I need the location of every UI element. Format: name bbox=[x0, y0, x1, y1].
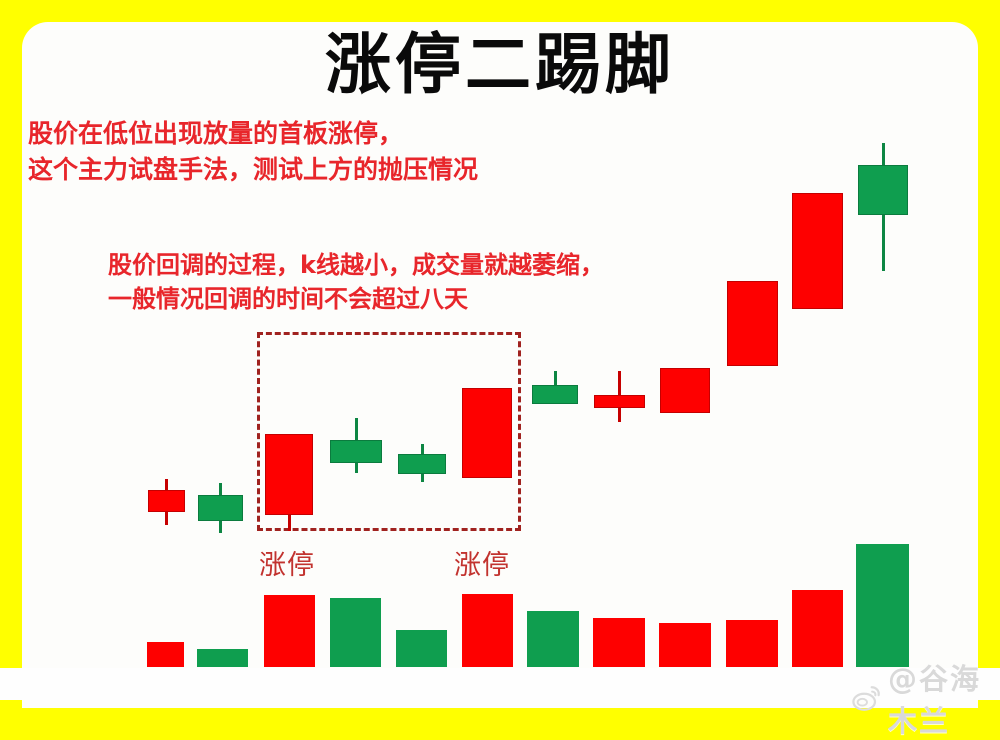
candle-body bbox=[148, 490, 185, 512]
volume-bar bbox=[197, 649, 248, 667]
limit-up-label-1: 涨停 bbox=[259, 543, 315, 582]
volume-bar bbox=[462, 594, 513, 667]
weibo-icon bbox=[852, 683, 882, 713]
volume-bar bbox=[264, 595, 315, 667]
volume-bar bbox=[527, 611, 579, 667]
volume-bar bbox=[593, 618, 645, 667]
limit-up-label-2: 涨停 bbox=[454, 543, 510, 582]
candle-body bbox=[462, 388, 512, 478]
volume-bar bbox=[726, 620, 778, 667]
volume-bar bbox=[147, 642, 184, 667]
candle-body bbox=[265, 434, 313, 515]
volume-bar bbox=[856, 544, 909, 667]
volume-bar bbox=[659, 623, 711, 667]
candlestick-chart: 涨停涨停 bbox=[0, 0, 1000, 700]
watermark-handle: @谷海木兰 bbox=[888, 656, 1000, 740]
candle-body bbox=[198, 495, 243, 521]
volume-bar bbox=[396, 630, 447, 667]
volume-bar bbox=[330, 598, 381, 667]
candle-body bbox=[792, 193, 843, 309]
candle-body bbox=[660, 368, 710, 413]
candle-body bbox=[398, 454, 446, 474]
volume-bar bbox=[792, 590, 843, 667]
candle-body bbox=[532, 385, 578, 404]
watermark: @谷海木兰 bbox=[852, 656, 1000, 740]
infographic-root: 涨停二踢脚 股价在低位出现放量的首板涨停， 这个主力试盘手法，测试上方的抛压情况… bbox=[0, 0, 1000, 700]
candle-body bbox=[330, 440, 382, 463]
candle-body bbox=[727, 281, 778, 366]
candle-body bbox=[858, 165, 908, 215]
candle-body bbox=[594, 395, 645, 408]
